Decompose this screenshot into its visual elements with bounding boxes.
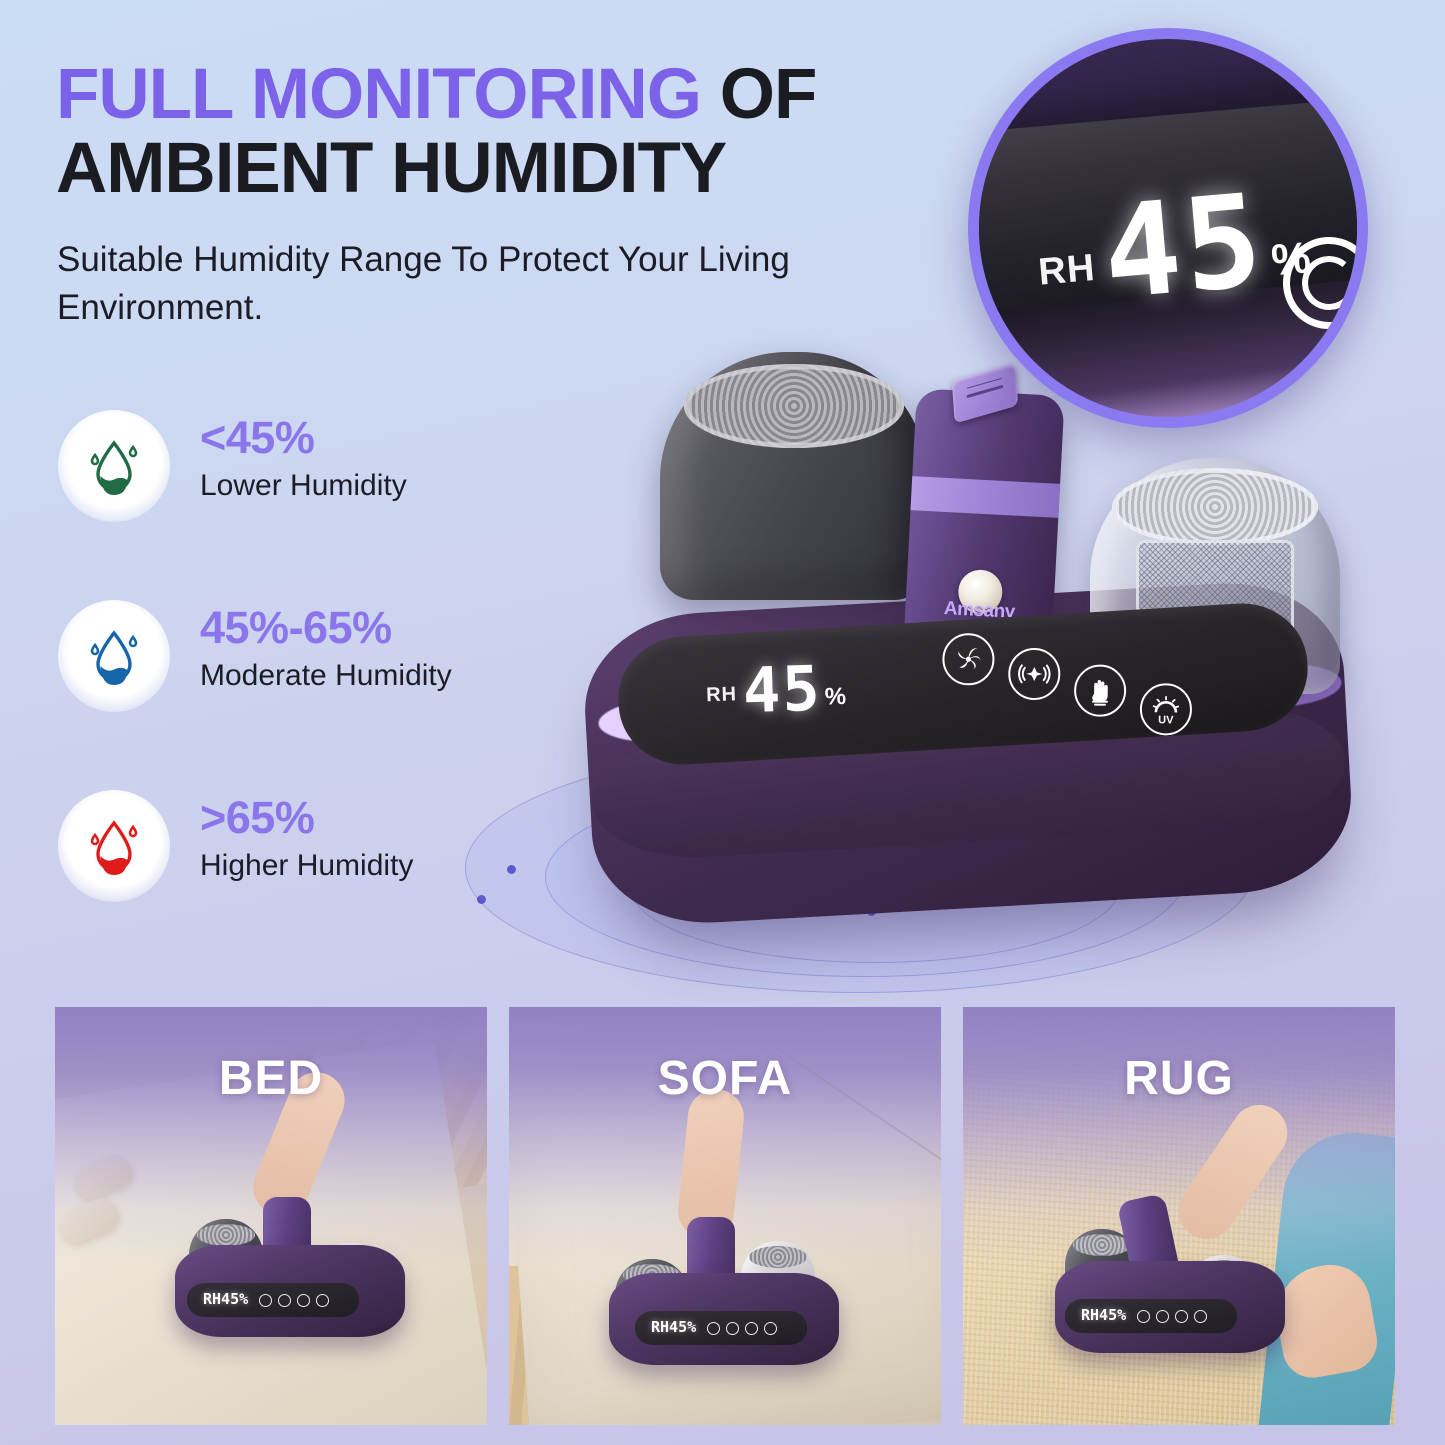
humidity-range-list: <45% Lower Humidity 45%-65% Moderate Hum… (50, 400, 570, 970)
lower-humidity-value: <45% (200, 412, 407, 464)
mini-control-strip: RH45% (187, 1283, 359, 1317)
cyclone-suction-icon[interactable] (942, 633, 995, 686)
svg-text:UV: UV (1158, 714, 1174, 726)
mini-device-sofa: RH45% (609, 1225, 839, 1365)
mini-icon (1156, 1310, 1169, 1323)
mini-icon (316, 1294, 329, 1307)
headline-accent-text: FULL MONITORING (56, 55, 701, 134)
scene-label-sofa: SOFA (509, 1051, 941, 1106)
rh-unit: % (824, 683, 846, 712)
water-drop-icon (86, 816, 142, 876)
scene-rug: RH45% RUG (963, 1007, 1395, 1425)
motor-canister (660, 352, 928, 600)
vibration-star-icon[interactable] (1008, 648, 1061, 701)
cyclone-glyph (951, 642, 985, 676)
rh-value: 45 (742, 658, 823, 722)
uv-glyph: UV (1149, 692, 1183, 726)
rh-label: RH (706, 683, 738, 707)
mini-control-strip: RH45% (1065, 1299, 1237, 1333)
mini-icon (707, 1322, 720, 1335)
scene-label-bed: BED (55, 1051, 487, 1106)
mini-icon-row (707, 1322, 777, 1335)
handle-accent-band (911, 476, 1061, 518)
mini-icon (297, 1294, 310, 1307)
humidity-row-lower: <45% Lower Humidity (50, 400, 570, 590)
higher-humidity-badge (58, 790, 170, 902)
mini-device-rug: RH45% (1055, 1213, 1285, 1353)
moderate-humidity-value: 45%-65% (200, 602, 452, 654)
scene-bed: RH45% BED (55, 1007, 487, 1425)
headline-line-2: AMBIENT HUMIDITY (56, 132, 956, 206)
mini-display: RH45% (1081, 1306, 1126, 1324)
mini-icon (745, 1322, 758, 1335)
canister-vent-top (684, 364, 904, 448)
water-drop-icon (86, 436, 142, 496)
lower-humidity-badge (58, 410, 170, 522)
product-image: Amsany RH 45 % (560, 330, 1400, 980)
mini-icon (764, 1322, 777, 1335)
scene-sofa: RH45% SOFA (509, 1007, 941, 1425)
magnifier-callout: RH 45 % (968, 28, 1368, 428)
moderate-humidity-label: Moderate Humidity (200, 656, 452, 696)
lower-humidity-label: Lower Humidity (200, 466, 407, 506)
moderate-humidity-text: 45%-65% Moderate Humidity (200, 602, 452, 696)
vibration-glyph (1017, 657, 1051, 691)
uv-lamp-icon[interactable]: UV (1140, 683, 1193, 736)
dust-hand-icon[interactable] (1074, 664, 1127, 717)
mini-icon (1175, 1310, 1188, 1323)
higher-humidity-text: >65% Higher Humidity (200, 792, 413, 886)
dust-cup-vent-top (1112, 468, 1318, 546)
mini-icon (726, 1322, 739, 1335)
higher-humidity-label: Higher Humidity (200, 846, 413, 886)
scene-label-rug: RUG (963, 1051, 1395, 1106)
headline-line-1: FULL MONITORING OF (56, 58, 956, 132)
hand-glyph (1083, 673, 1117, 707)
headline-block: FULL MONITORING OF AMBIENT HUMIDITY (56, 58, 956, 206)
mini-display: RH45% (203, 1290, 248, 1308)
headline-of-text: OF (720, 55, 817, 134)
magnified-humidity-display: RH 45 % (1032, 177, 1314, 320)
mini-icon (1194, 1310, 1207, 1323)
subheading-text: Suitable Humidity Range To Protect Your … (57, 236, 857, 332)
magnified-rh-label: RH (1037, 247, 1097, 295)
moderate-humidity-badge (58, 600, 170, 712)
mini-icon (1137, 1310, 1150, 1323)
mini-device-bed: RH45% (175, 1197, 405, 1337)
humidity-row-higher: >65% Higher Humidity (50, 780, 570, 970)
higher-humidity-value: >65% (200, 792, 413, 844)
lower-humidity-text: <45% Lower Humidity (200, 412, 407, 506)
mini-icon (278, 1294, 291, 1307)
magnified-rh-value: 45 (1099, 181, 1269, 314)
mini-icon (259, 1294, 272, 1307)
usage-scenes: RH45% BED RH45% (55, 1007, 1395, 1425)
mini-icon-row (259, 1294, 329, 1307)
humidity-row-moderate: 45%-65% Moderate Humidity (50, 590, 570, 780)
mini-control-strip: RH45% (635, 1311, 807, 1345)
water-drop-icon (86, 626, 142, 686)
mini-display: RH45% (651, 1318, 696, 1336)
mini-icon-row (1137, 1310, 1207, 1323)
panel-icon-group: UV (928, 633, 1193, 736)
humidity-display: RH 45 % (705, 657, 847, 723)
